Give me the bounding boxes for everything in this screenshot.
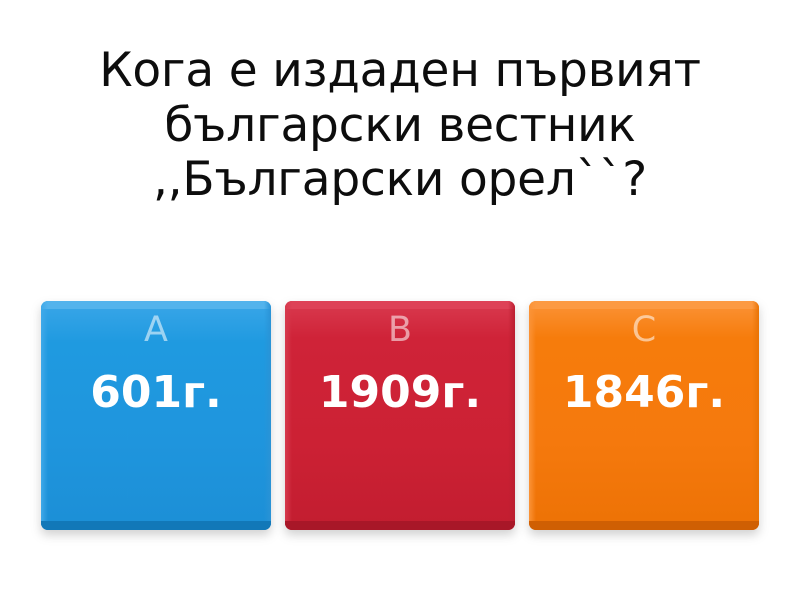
answer-letter-c: C xyxy=(632,313,656,348)
answer-options-row: A 601г. B 1909г. C 1846г. xyxy=(0,301,800,530)
answer-option-b[interactable]: B 1909г. xyxy=(285,301,515,530)
tile-bottom-bevel-a xyxy=(41,521,271,530)
tile-left-edge-b xyxy=(285,301,292,530)
tile-right-edge-a xyxy=(264,301,271,530)
question-text: Кога е издаден първият български вестник… xyxy=(0,44,800,208)
tile-top-highlight-b xyxy=(285,301,515,309)
answer-text-c: 1846г. xyxy=(553,370,735,416)
tile-top-highlight-a xyxy=(41,301,271,309)
answer-text-a: 601г. xyxy=(80,370,232,416)
answer-letter-b: B xyxy=(388,313,412,348)
tile-top-highlight-c xyxy=(529,301,759,309)
tile-left-edge-c xyxy=(529,301,536,530)
answer-option-a[interactable]: A 601г. xyxy=(41,301,271,530)
tile-right-edge-b xyxy=(508,301,515,530)
tile-bottom-bevel-b xyxy=(285,521,515,530)
answer-text-b: 1909г. xyxy=(309,370,491,416)
answer-option-c[interactable]: C 1846г. xyxy=(529,301,759,530)
quiz-screen: Кога е издаден първият български вестник… xyxy=(0,0,800,600)
answer-letter-a: A xyxy=(144,313,168,348)
tile-right-edge-c xyxy=(752,301,759,530)
tile-bottom-bevel-c xyxy=(529,521,759,530)
tile-left-edge-a xyxy=(41,301,48,530)
